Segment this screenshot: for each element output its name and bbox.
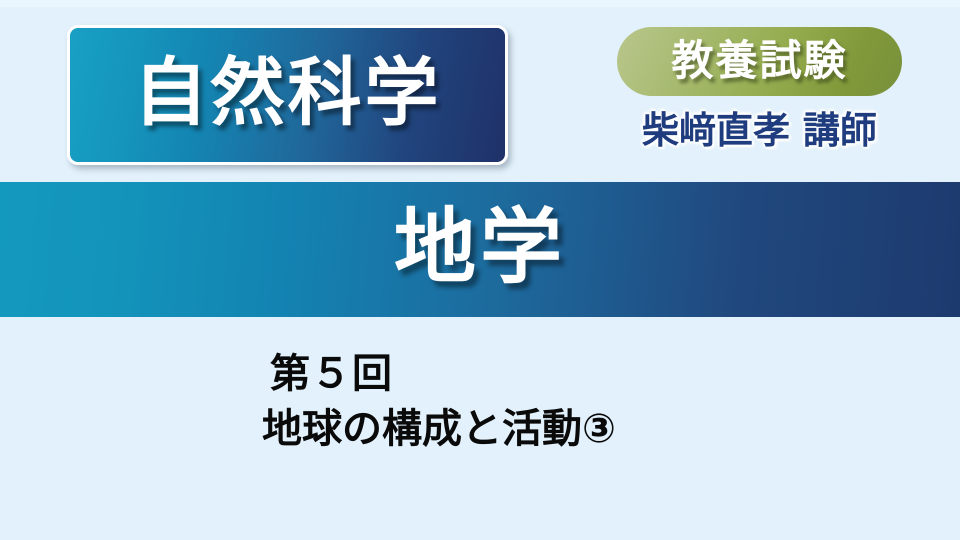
exam-category-label: 教養試験 bbox=[671, 40, 847, 84]
lesson-number: 第５回 bbox=[270, 348, 782, 401]
subject-badge-label: 自然科学 bbox=[134, 56, 442, 134]
lesson-info: 第５回 地球の構成と活動③ bbox=[262, 348, 782, 456]
exam-category-pill: 教養試験 bbox=[617, 27, 902, 96]
instructor-name: 柴﨑直孝 講師 bbox=[617, 104, 902, 156]
course-title-label: 地学 bbox=[394, 207, 566, 293]
lesson-topic: 地球の構成と活動③ bbox=[262, 403, 782, 456]
subject-badge: 自然科学 bbox=[67, 25, 508, 165]
course-title-band: 地学 bbox=[0, 182, 960, 317]
title-slide: 自然科学 教養試験 柴﨑直孝 講師 地学 第５回 地球の構成と活動③ bbox=[0, 0, 960, 540]
instructor-name-label: 柴﨑直孝 講師 bbox=[642, 112, 877, 149]
top-edge-strip bbox=[0, 0, 960, 7]
